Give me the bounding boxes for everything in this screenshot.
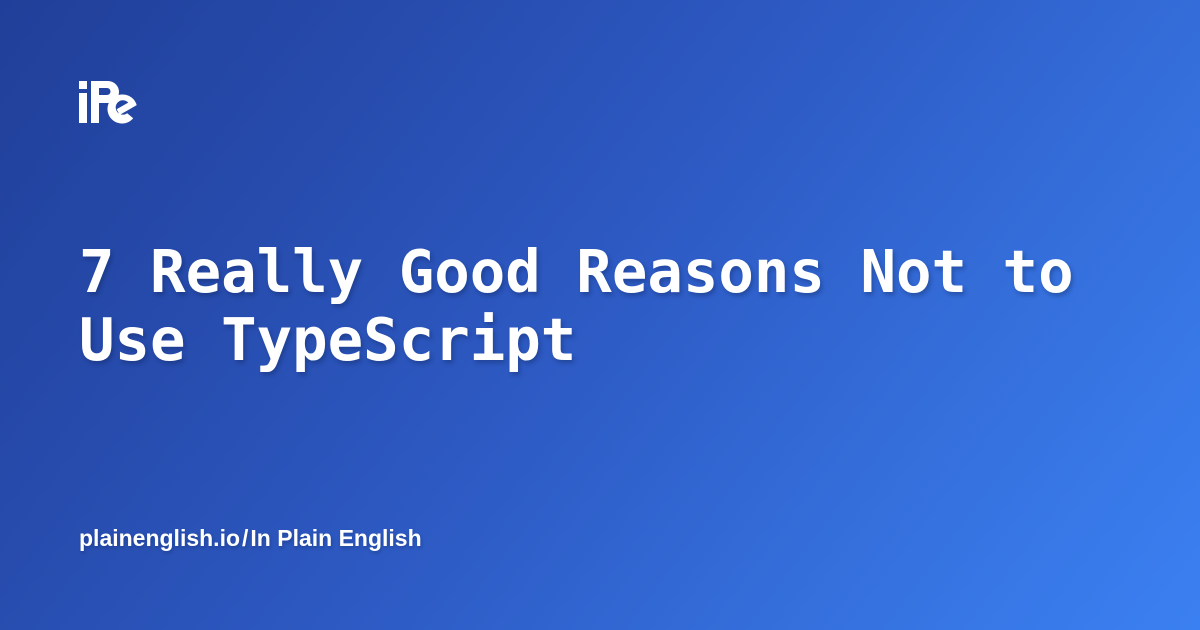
footer-separator: / <box>240 525 250 551</box>
ipe-logo-icon <box>79 79 139 125</box>
ipe-logo[interactable] <box>79 79 139 125</box>
article-title: 7 Really Good Reasons Not to Use TypeScr… <box>79 238 1119 374</box>
footer-publication[interactable]: In Plain English <box>250 525 421 551</box>
card-footer: plainenglish.io/In Plain English <box>79 523 422 553</box>
social-share-card: 7 Really Good Reasons Not to Use TypeScr… <box>0 0 1200 630</box>
footer-site[interactable]: plainenglish.io <box>79 525 240 551</box>
